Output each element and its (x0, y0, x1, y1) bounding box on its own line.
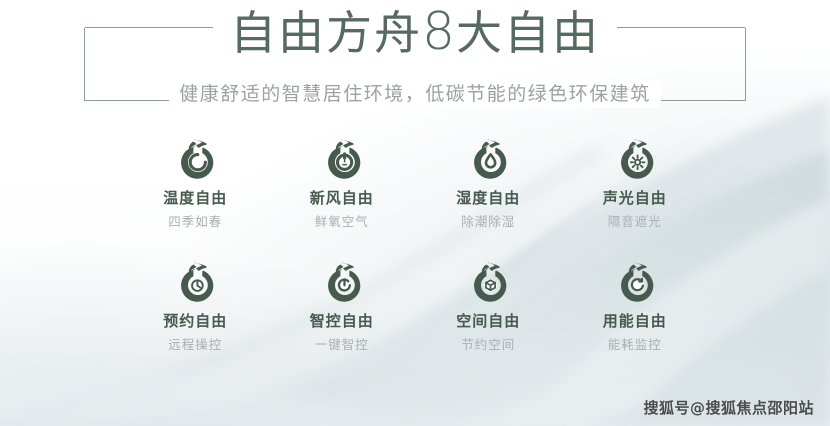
feature-label: 湿度自由 (456, 188, 520, 208)
title-number: 8 (422, 2, 456, 62)
feature-sublabel: 隔音遮光 (608, 213, 662, 231)
page-subtitle: 健康舒适的智慧居住环境，低碳节能的绿色环保建筑 (169, 80, 661, 108)
feature-sublabel: 鲜氧空气 (315, 213, 369, 231)
feature-label: 新风自由 (310, 188, 374, 208)
header: 自由方舟8大自由 健康舒适的智慧居住环境，低碳节能的绿色环保建筑 (0, 0, 830, 120)
feature-sublabel: 一键智控 (315, 336, 369, 354)
promo-banner: 自由方舟8大自由 健康舒适的智慧居住环境，低碳节能的绿色环保建筑 (0, 0, 830, 426)
feature-label: 空间自由 (456, 311, 520, 331)
feature-item[interactable]: 用能自由 能耗监控 (562, 259, 709, 354)
subtitle-row: 健康舒适的智慧居住环境，低碳节能的绿色环保建筑 (0, 80, 830, 108)
sound-light-freedom-icon (612, 136, 658, 182)
feature-label: 温度自由 (163, 188, 227, 208)
feature-sublabel: 四季如春 (168, 213, 222, 231)
feature-item[interactable]: 空间自由 节约空间 (415, 259, 562, 354)
title-suffix: 大自由 (456, 6, 600, 60)
feature-grid: 温度自由 四季如春 (122, 136, 708, 354)
feature-label: 智控自由 (310, 311, 374, 331)
feature-sublabel: 远程操控 (168, 336, 222, 354)
humidity-freedom-icon (465, 136, 511, 182)
feature-item[interactable]: 声光自由 隔音遮光 (562, 136, 709, 231)
schedule-freedom-icon (172, 259, 218, 305)
space-freedom-icon (465, 259, 511, 305)
feature-sublabel: 除潮除湿 (461, 213, 515, 231)
energy-freedom-icon (612, 259, 658, 305)
feature-sublabel: 节约空间 (461, 336, 515, 354)
feature-item[interactable]: 湿度自由 除潮除湿 (415, 136, 562, 231)
smart-control-freedom-icon (319, 259, 365, 305)
title-prefix: 自由方舟 (230, 6, 422, 60)
watermark: 搜狐号@搜狐焦点邵阳站 (643, 397, 814, 418)
fresh-air-freedom-icon (319, 136, 365, 182)
feature-label: 预约自由 (163, 311, 227, 331)
feature-item[interactable]: 新风自由 鲜氧空气 (269, 136, 416, 231)
feature-item[interactable]: 温度自由 四季如春 (122, 136, 269, 231)
feature-item[interactable]: 预约自由 远程操控 (122, 259, 269, 354)
feature-item[interactable]: 智控自由 一键智控 (269, 259, 416, 354)
feature-label: 用能自由 (603, 311, 667, 331)
temperature-freedom-icon (172, 136, 218, 182)
page-title: 自由方舟8大自由 (0, 2, 830, 63)
feature-sublabel: 能耗监控 (608, 336, 662, 354)
feature-label: 声光自由 (603, 188, 667, 208)
